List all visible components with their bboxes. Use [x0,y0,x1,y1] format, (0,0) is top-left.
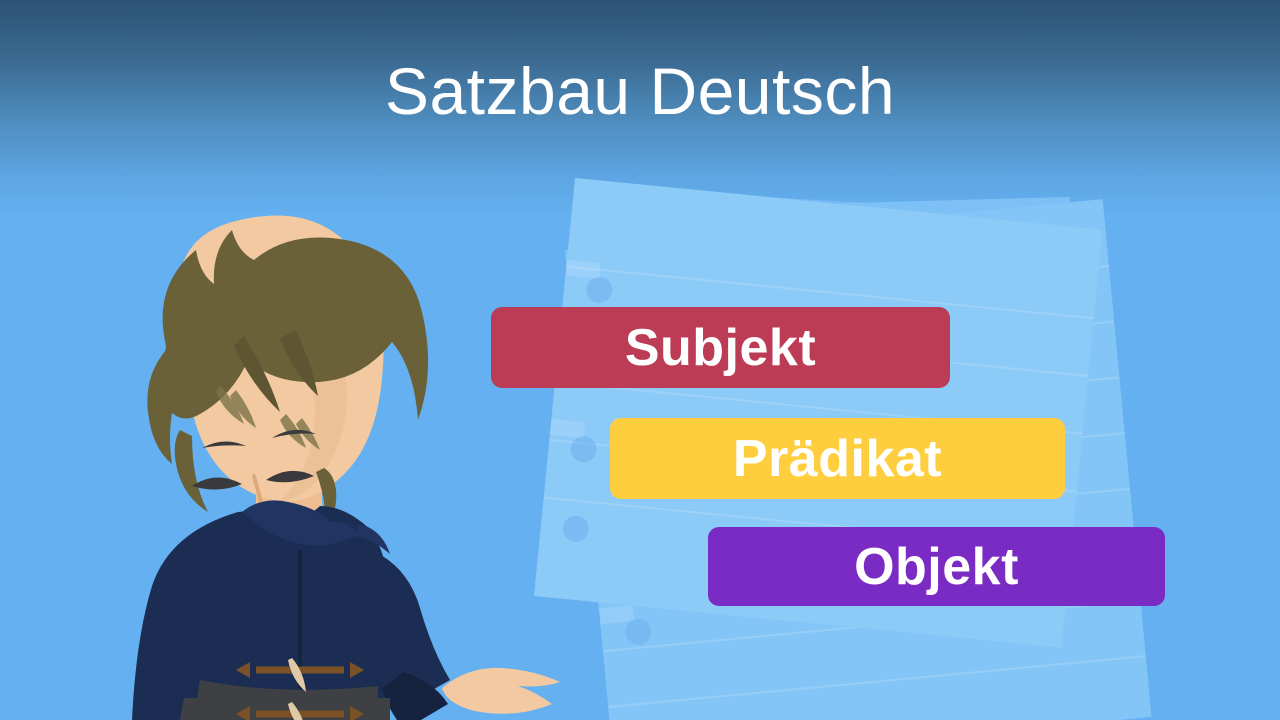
cartoon-presenter-illustration [60,150,620,720]
sentence-part-objekt-label: Objekt [854,541,1019,593]
sentence-part-subjekt-label: Subjekt [625,322,816,374]
sentence-part-subjekt[interactable]: Subjekt [491,307,950,388]
sentence-part-praedikat-label: Prädikat [733,433,942,485]
slide-canvas: Satzbau Deutsch Subjekt Prädikat Objekt [0,0,1280,720]
page-title: Satzbau Deutsch [0,58,1280,124]
sentence-part-praedikat[interactable]: Prädikat [610,418,1065,499]
sentence-part-objekt[interactable]: Objekt [708,527,1165,606]
